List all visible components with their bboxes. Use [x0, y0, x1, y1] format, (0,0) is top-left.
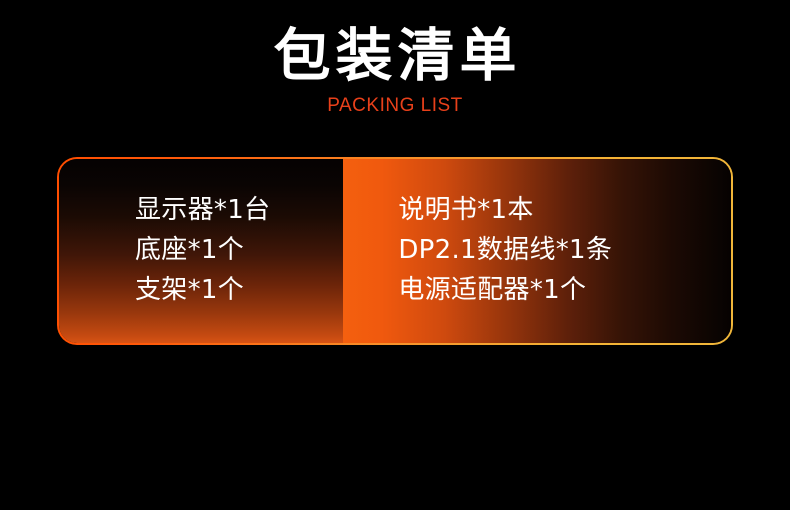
list-item: DP2.1数据线*1条: [398, 230, 731, 270]
list-item: 电源适配器*1个: [398, 270, 731, 310]
packing-right-item-list: 说明书*1本 DP2.1数据线*1条 电源适配器*1个: [343, 190, 731, 310]
page-header: 包装清单 PACKING LIST: [0, 22, 790, 117]
page-title: 包装清单: [0, 22, 790, 90]
packing-list-box: 显示器*1台 底座*1个 支架*1个 说明书*1本 DP2.1数据线*1条 电源…: [57, 157, 733, 345]
page-root: 包装清单 PACKING LIST 显示器*1台 底座*1个 支架*1个 说明书…: [0, 0, 790, 510]
page-subtitle: PACKING LIST: [0, 95, 790, 117]
packing-left-item-list: 显示器*1台 底座*1个 支架*1个: [59, 190, 343, 310]
list-item: 支架*1个: [135, 270, 343, 310]
packing-panel-left: 显示器*1台 底座*1个 支架*1个: [59, 159, 343, 343]
packing-panel-right: 说明书*1本 DP2.1数据线*1条 电源适配器*1个: [343, 159, 731, 343]
list-item: 显示器*1台: [135, 190, 343, 230]
list-item: 底座*1个: [135, 230, 343, 270]
list-item: 说明书*1本: [398, 190, 731, 230]
packing-list-inner: 显示器*1台 底座*1个 支架*1个 说明书*1本 DP2.1数据线*1条 电源…: [59, 159, 731, 343]
